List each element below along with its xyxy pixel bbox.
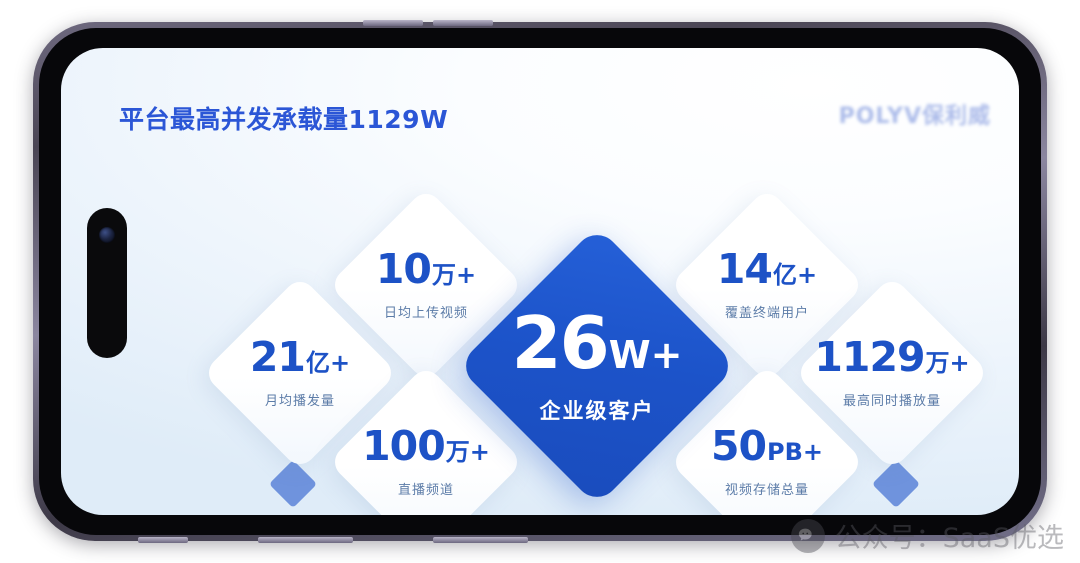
phone-screen: 平台最高并发承载量1129W POLYV保利威 10 万+ 日均上传视频 (61, 48, 1019, 515)
stat-unit: 亿+ (306, 351, 350, 375)
decorative-diamond-left (269, 460, 317, 508)
stat-value-top-left: 10 万+ (376, 249, 476, 290)
stat-label-bottom-left: 直播频道 (398, 479, 454, 498)
stat-value-bottom-right: 50 PB+ (711, 426, 823, 467)
stat-value-right: 1129 万+ (814, 337, 969, 378)
stat-label-bottom-right: 视频存储总量 (725, 479, 809, 498)
phone-bezel: 平台最高并发承载量1129W POLYV保利威 10 万+ 日均上传视频 (39, 28, 1041, 535)
stat-value-bottom-left: 100 万+ (362, 426, 490, 467)
action-button[interactable] (138, 537, 188, 543)
power-button[interactable] (258, 537, 353, 543)
sim-tray (433, 537, 528, 543)
stat-unit: 万+ (446, 440, 490, 464)
stat-value-left: 21 亿+ (250, 337, 350, 378)
stat-unit: PB+ (767, 440, 823, 464)
volume-up-button[interactable] (363, 20, 423, 26)
stat-number: 26 (512, 307, 608, 379)
page-title: 平台最高并发承载量1129W (119, 100, 448, 136)
stat-unit: 亿+ (773, 263, 817, 287)
stat-unit: 万+ (432, 263, 476, 287)
stat-value-top-right: 14 亿+ (717, 249, 817, 290)
stat-unit: 万+ (926, 351, 970, 375)
stat-label-left: 月均播发量 (265, 390, 335, 409)
brand-logo: POLYV保利威 (839, 98, 991, 130)
stat-unit: W+ (609, 336, 683, 374)
phone-device-frame: 平台最高并发承载量1129W POLYV保利威 10 万+ 日均上传视频 (33, 22, 1047, 541)
front-camera-icon (99, 227, 115, 243)
watermark-text: 公众号：SaaS优选 (835, 516, 1064, 555)
watermark: 公众号：SaaS优选 (791, 516, 1064, 555)
stat-number: 1129 (814, 337, 924, 378)
stat-label-right: 最高同时播放量 (843, 390, 941, 409)
stat-label-top-right: 覆盖终端用户 (725, 302, 809, 321)
stat-number: 100 (362, 426, 445, 467)
stat-number: 21 (250, 337, 305, 378)
decorative-diamond-right (872, 460, 920, 508)
stat-value-center: 26 W+ (512, 307, 683, 379)
stat-label-top-left: 日均上传视频 (384, 302, 468, 321)
stat-number: 10 (376, 249, 431, 290)
volume-down-button[interactable] (433, 20, 493, 26)
stat-number: 14 (717, 249, 772, 290)
stat-label-center: 企业级客户 (540, 395, 655, 425)
stat-number: 50 (711, 426, 766, 467)
presentation-slide: 平台最高并发承载量1129W POLYV保利威 10 万+ 日均上传视频 (61, 48, 1019, 515)
wechat-bubble-icon (791, 519, 825, 553)
dynamic-island (87, 208, 127, 358)
